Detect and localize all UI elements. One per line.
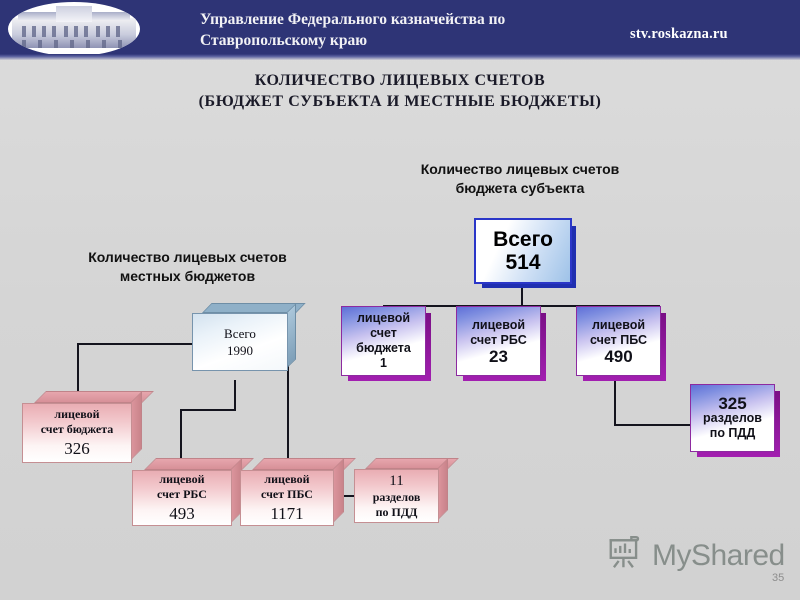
subject-section-heading: Количество лицевых счетов бюджета субъек… (385, 160, 655, 198)
node-subject-rbs-line1: лицевой (472, 318, 525, 333)
node-local-budget-value: 326 (64, 439, 90, 459)
connector-local-to-rbs-stem (234, 380, 236, 410)
subject-heading-line2: бюджета субъекта (385, 179, 655, 198)
header-divider (0, 54, 800, 60)
node-subject-pbs-line2: счет ПБС (590, 333, 647, 348)
node-local-rbs-line2: счет РБС (157, 487, 207, 502)
node-subject-total[interactable]: Всего 514 (474, 218, 568, 280)
slide-title-line1: КОЛИЧЕСТВО ЛИЦЕВЫХ СЧЕТОВ (0, 70, 800, 91)
node-local-rbs-line1: лицевой (159, 472, 204, 487)
node-subject-pdd-line3: по ПДД (710, 426, 755, 441)
node-subject-total-label: Всего (493, 228, 553, 251)
node-local-total[interactable]: Всего 1990 (192, 303, 296, 379)
node-subject-rbs-account[interactable]: лицевой счет РБС 23 (456, 306, 539, 374)
node-subject-budget-line1: лицевой (357, 311, 410, 326)
node-subject-total-value: 514 (505, 251, 540, 274)
node-subject-pbs-account[interactable]: лицевой счет ПБС 490 (576, 306, 659, 374)
node-subject-pbs-line1: лицевой (592, 318, 645, 333)
slide-header: Управление Федерального казначейства по … (0, 0, 800, 58)
node-local-budget-account[interactable]: лицевой счет бюджета 326 (22, 391, 142, 473)
connector-pbs-to-pdd-vertical (614, 375, 616, 425)
node-subject-rbs-line2: счет РБС (470, 333, 526, 348)
node-subject-budget-line2: счет (370, 326, 397, 341)
node-local-pdd-line3: по ПДД (376, 505, 418, 520)
subject-heading-line1: Количество лицевых счетов (385, 160, 655, 179)
node-local-total-label: Всего (224, 325, 256, 342)
node-local-pbs-value: 1171 (270, 504, 303, 524)
node-local-pbs-line1: лицевой (264, 472, 309, 487)
node-local-budget-line2: счет бюджета (41, 422, 114, 437)
node-subject-budget-line3: бюджета (356, 341, 411, 356)
header-org-title: Управление Федерального казначейства по … (200, 9, 600, 51)
building-oval-logo-icon (8, 2, 140, 56)
node-local-total-value: 1990 (227, 342, 253, 359)
myshared-watermark-text: MyShared (652, 539, 785, 573)
page-number: 35 (772, 572, 784, 584)
slide-title-line2: (БЮДЖЕТ СУБЪЕКТА И МЕСТНЫЕ БЮДЖЕТЫ) (0, 91, 800, 112)
presentation-chart-icon (606, 534, 644, 577)
connector-local-to-rbs-horizontal (180, 409, 236, 411)
slide-title: КОЛИЧЕСТВО ЛИЦЕВЫХ СЧЕТОВ (БЮДЖЕТ СУБЪЕК… (0, 70, 800, 112)
node-subject-budget-account[interactable]: лицевой счет бюджета 1 (341, 306, 424, 374)
connector-local-to-budget-vertical (77, 343, 79, 391)
node-subject-pdd-value: 325 (718, 396, 746, 411)
local-section-heading: Количество лицевых счетов местных бюджет… (55, 248, 320, 286)
node-local-pbs-account[interactable]: лицевой счет ПБС 1171 (240, 458, 344, 536)
node-local-pdd-line2: разделов (373, 490, 421, 505)
node-local-rbs-account[interactable]: лицевой счет РБС 493 (132, 458, 242, 536)
header-website-url[interactable]: stv.roskazna.ru (630, 26, 728, 43)
slide-canvas: Управление Федерального казначейства по … (0, 0, 800, 600)
connector-local-to-budget-horizontal (77, 343, 203, 345)
node-local-rbs-value: 493 (169, 504, 195, 524)
node-subject-rbs-value: 23 (489, 349, 508, 364)
connector-local-to-rbs-vertical (180, 409, 182, 460)
node-subject-budget-value: 1 (380, 356, 387, 371)
node-subject-pdd-line2: разделов (703, 411, 762, 426)
node-local-pdd-value: 11 (389, 472, 403, 490)
node-local-pbs-line2: счет ПБС (261, 487, 313, 502)
myshared-watermark: MyShared (606, 534, 785, 577)
node-local-budget-line1: лицевой (54, 407, 99, 422)
connector-pbs-to-pdd-horizontal (614, 424, 690, 426)
local-heading-line2: местных бюджетов (55, 267, 320, 286)
node-subject-pbs-value: 490 (604, 349, 632, 364)
node-subject-pdd-sections[interactable]: 325 разделов по ПДД (690, 384, 773, 450)
local-heading-line1: Количество лицевых счетов (55, 248, 320, 267)
node-local-pdd-sections[interactable]: 11 разделов по ПДД (354, 458, 448, 532)
